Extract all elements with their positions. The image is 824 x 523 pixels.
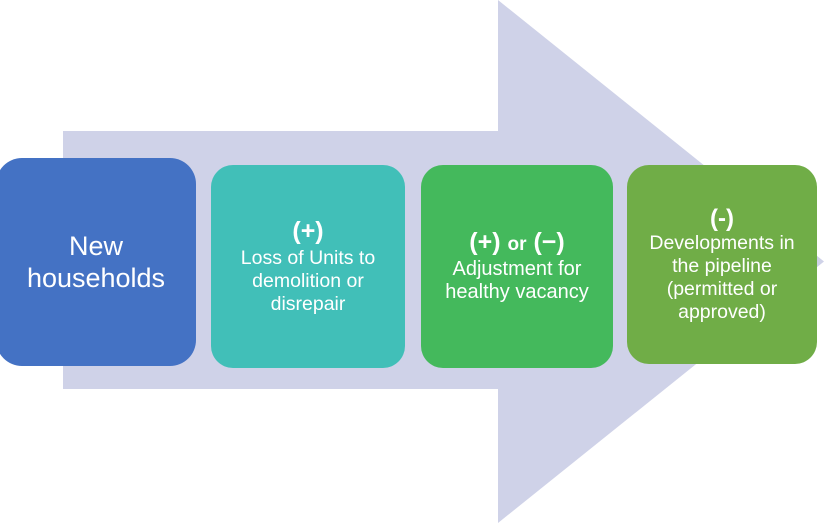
sign-conjunction: or	[508, 234, 527, 255]
step-sign-plus: (+)	[292, 217, 323, 246]
step-label-new-households: Newhouseholds	[27, 230, 165, 295]
diagram-canvas: Newhouseholds (+) Loss of Units todemoli…	[0, 0, 824, 523]
step-sign-minus: (-)	[710, 205, 734, 233]
step-box-new-households[interactable]: Newhouseholds	[0, 158, 196, 366]
step-box-loss-of-units[interactable]: (+) Loss of Units todemolition ordisrepa…	[211, 165, 405, 368]
step-label-pipeline: Developments inthe pipeline(permitted or…	[649, 232, 794, 324]
step-box-pipeline[interactable]: (-) Developments inthe pipeline(permitte…	[627, 165, 817, 364]
sign-minus: (−)	[533, 228, 564, 256]
step-box-healthy-vacancy[interactable]: (+) or (−) Adjustment forhealthy vacancy	[421, 165, 613, 368]
sign-plus: (+)	[469, 228, 500, 256]
step-label-healthy-vacancy: Adjustment forhealthy vacancy	[445, 258, 588, 305]
step-label-loss-of-units: Loss of Units todemolition ordisrepair	[241, 247, 375, 316]
step-sign-plus-or-minus: (+) or (−)	[469, 228, 564, 257]
